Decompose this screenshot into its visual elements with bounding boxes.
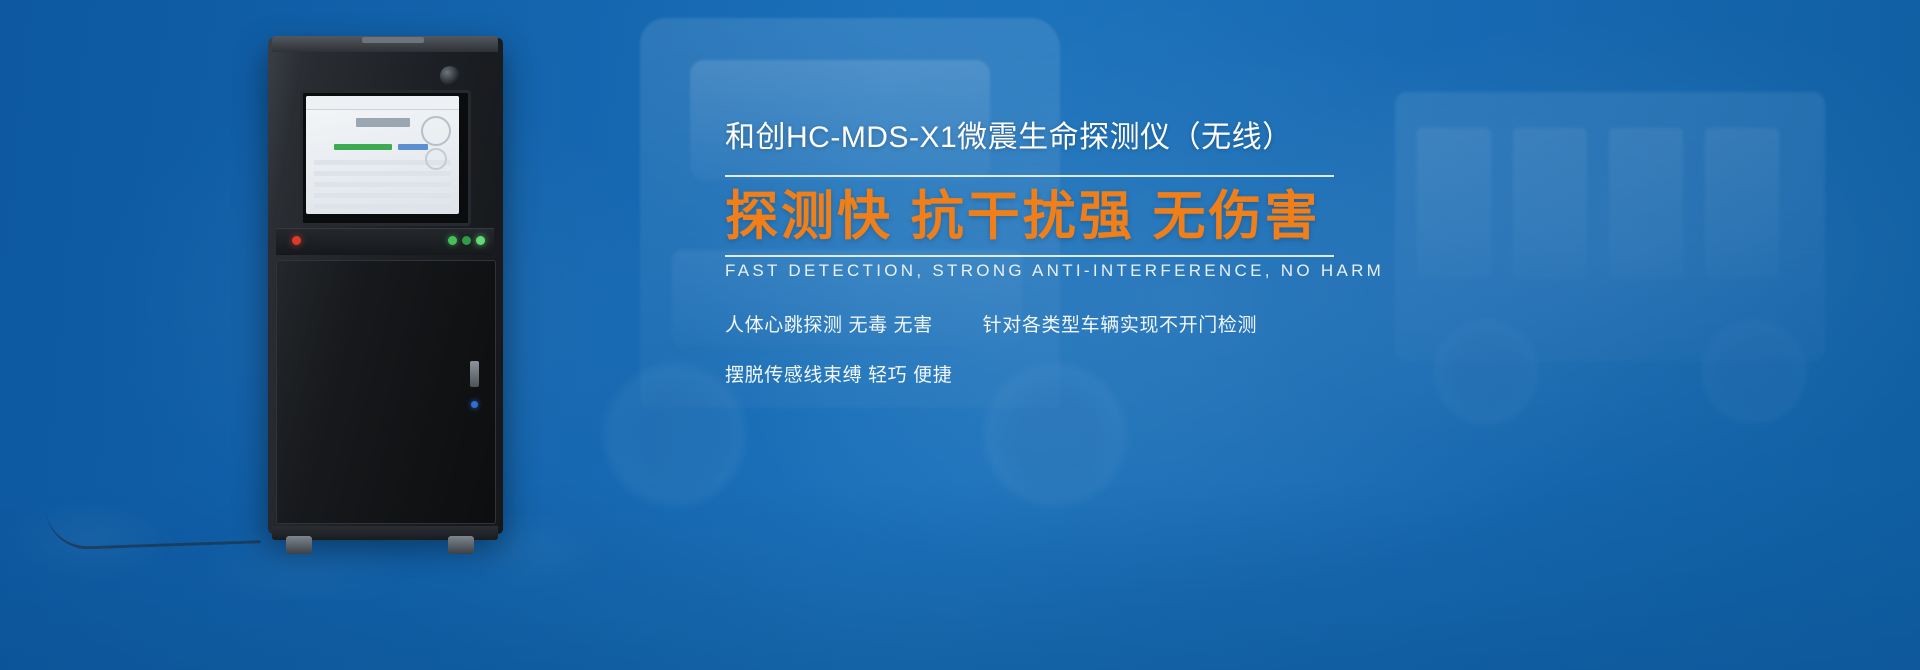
product-hero-banner: 和创HC-MDS-X1微震生命探测仪（无线） 探测快 抗干扰强 无伤害 FAST… (0, 0, 1920, 670)
feature-row-2: 摆脱传感线束缚 轻巧 便捷 (725, 361, 1845, 391)
cabinet-door (276, 260, 496, 524)
screen-data-row (314, 182, 451, 187)
cabinet-top-stripe (362, 37, 424, 43)
door-handle (470, 361, 479, 387)
screen-status-blue-bar (398, 144, 428, 150)
screen-gauge-small-icon (425, 148, 447, 170)
status-led-green (448, 236, 457, 245)
headline-english: FAST DETECTION, STRONG ANTI-INTERFERENCE… (725, 257, 1845, 281)
camera-icon (440, 66, 460, 86)
banner-copy: 和创HC-MDS-X1微震生命探测仪（无线） 探测快 抗干扰强 无伤害 FAST… (725, 118, 1845, 391)
status-led-green (476, 236, 485, 245)
door-lock-led (471, 401, 478, 408)
screen-data-row (314, 204, 451, 209)
screen-header-bar (306, 96, 459, 110)
display-bezel (300, 90, 471, 226)
power-led-red (292, 236, 301, 245)
caster-wheel (448, 536, 474, 554)
screen-data-row (314, 193, 451, 198)
screen-logo (356, 118, 410, 127)
feature-row-1: 人体心跳探测 无毒 无害 针对各类型车辆实现不开门检测 (725, 311, 1845, 341)
product-photo (258, 28, 508, 548)
feature-1-right: 针对各类型车辆实现不开门检测 (983, 311, 1257, 341)
screen-gauge-icon (421, 116, 451, 146)
screen-data-row (314, 171, 451, 176)
feature-2-left: 摆脱传感线束缚 轻巧 便捷 (725, 365, 952, 386)
screen-status-green-bar (334, 144, 392, 150)
power-cable (45, 500, 260, 550)
headline-slogan: 探测快 抗干扰强 无伤害 (725, 177, 1845, 255)
product-title: 和创HC-MDS-X1微震生命探测仪（无线） (725, 118, 1845, 158)
display-screen (306, 96, 459, 214)
status-led-green (462, 236, 471, 245)
feature-1-left: 人体心跳探测 无毒 无害 (725, 315, 933, 336)
caster-wheel (286, 536, 312, 554)
